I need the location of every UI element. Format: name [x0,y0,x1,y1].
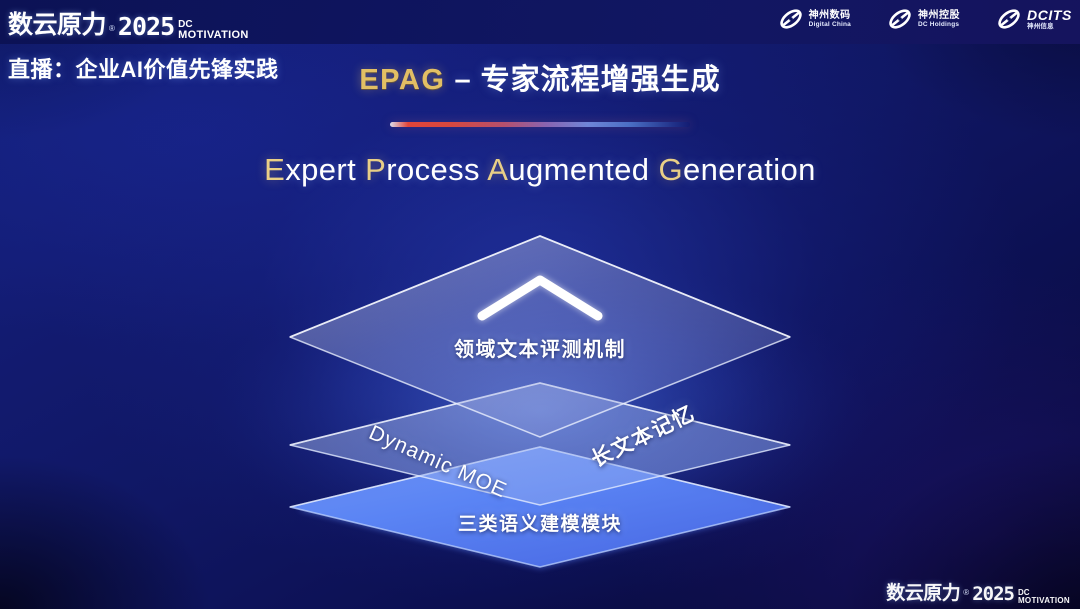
brand-year: 2025 [118,12,174,41]
subtitle-rest-process: rocess [386,152,487,187]
partner-logo-text: 神州控股 DC Holdings [918,10,960,28]
layer-label-top: 领域文本评测机制 [0,333,1080,362]
partner-name-cn: 神州数码 [809,10,851,21]
subtitle-cap-g: G [658,152,683,187]
brand-motivation-label: MOTIVATION [178,30,248,41]
partner-name-en: DC Holdings [918,21,960,28]
swirl-logo-icon [996,6,1022,32]
subtitle-cap-a: A [487,152,508,187]
partner-logo-text: 神州数码 Digital China [809,10,851,28]
title-acronym: EPAG [359,64,445,96]
brand-logo: 数云原力 ® 2025 DC MOTIVATION [8,5,249,41]
subtitle-rest-generation: eneration [683,152,816,187]
watermark-dc-motivation: DC MOTIVATION [1018,589,1070,605]
partner-logo-group: 神州数码 Digital China 神州控股 DC Holdings [778,6,1072,32]
slide-canvas: 数云原力 ® 2025 DC MOTIVATION 直播：企业AI价值先锋实践 … [0,0,1080,609]
gradient-divider [390,122,690,127]
swirl-logo-icon [887,6,913,32]
subtitle-rest-augmented: ugmented [508,152,658,187]
subtitle-cap-e: E [264,152,285,187]
title-subtitle-cn: – 专家流程增强生成 [454,64,720,96]
watermark-brand-name-cn: 数云原力 [886,578,960,605]
partner-name-en: DCITS [1027,8,1072,24]
watermark-registered-mark: ® [963,588,969,597]
layer-label-bottom: 三类语义建模模块 [0,509,1080,536]
watermark-motivation-label: MOTIVATION [1018,597,1070,605]
partner-logo-dcits: DCITS 神州信息 [996,6,1072,32]
subtitle-rest-expert: xpert [285,152,365,187]
brand-watermark: 数云原力 ® 2025 DC MOTIVATION [886,578,1070,605]
partner-name-cn: 神州信息 [1027,23,1072,30]
partner-logo-dc-holdings: 神州控股 DC Holdings [887,6,960,32]
partner-logo-text: DCITS 神州信息 [1027,8,1072,31]
brand-dc-motivation: DC MOTIVATION [178,20,248,41]
live-session-label: 直播：企业AI价值先锋实践 [8,52,279,84]
partner-name-en: Digital China [809,21,851,28]
brand-name-cn: 数云原力 [8,5,106,41]
watermark-brand-year: 2025 [972,583,1014,605]
partner-logo-digital-china: 神州数码 Digital China [778,6,851,32]
subtitle-cap-p: P [365,152,386,187]
subtitle-expansion: Expert Process Augmented Generation [0,152,1080,188]
swirl-logo-icon [778,6,804,32]
brand-registered-mark: ® [109,24,115,33]
partner-name-cn: 神州控股 [918,10,960,21]
